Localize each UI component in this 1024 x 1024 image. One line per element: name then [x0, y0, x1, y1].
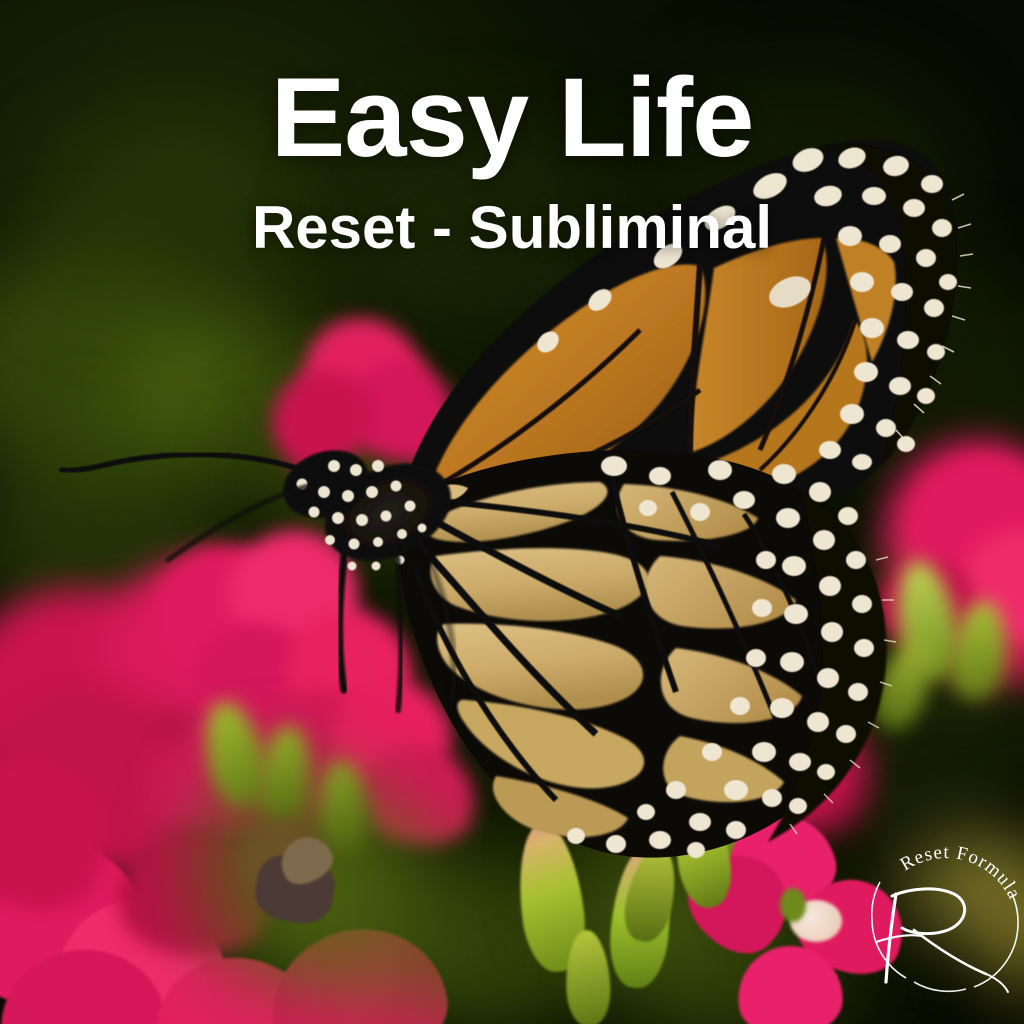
page-subtitle: Reset - Subliminal — [0, 198, 1024, 258]
butterfly-hindwing — [396, 450, 896, 858]
logo-circle-arc-bottom — [914, 982, 966, 991]
brand-logo[interactable]: Reset Formula — [862, 824, 1024, 1004]
logo-brand-name: Reset Formula — [897, 842, 1024, 903]
page-title: Easy Life — [0, 62, 1024, 174]
logo-circle-arc-right — [974, 894, 1018, 987]
logo-monogram-r — [876, 889, 1008, 992]
poster-canvas: Easy Life Reset - Subliminal Reset Formu… — [0, 0, 1024, 1024]
reset-formula-logo-icon: Reset Formula — [862, 824, 1024, 1004]
